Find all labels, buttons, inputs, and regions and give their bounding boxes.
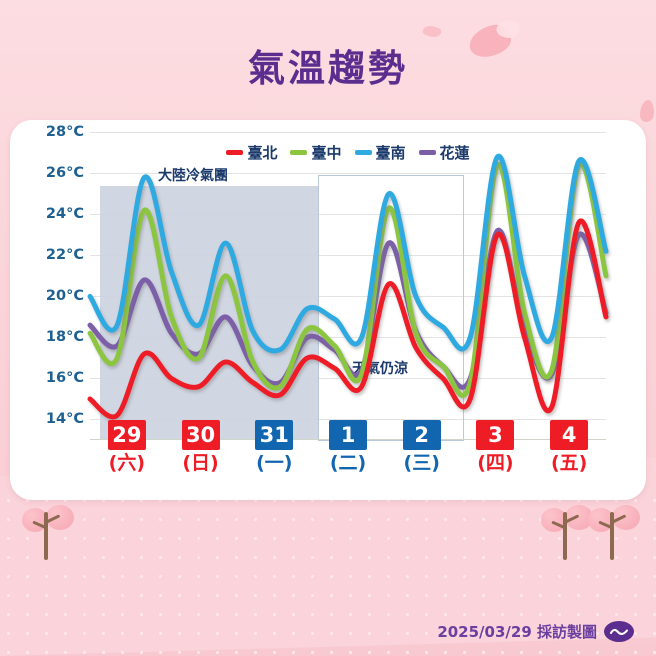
date-cell-30[interactable]: 30(日) [170,420,232,474]
date-day-badge: 4 [550,420,588,450]
date-weekday-label: (三) [391,453,453,474]
cwa-wave-logo-icon [604,621,634,642]
date-day-badge: 3 [476,420,514,450]
date-cell-29[interactable]: 29(六) [96,420,158,474]
date-weekday-label: (日) [170,453,232,474]
date-cell-1[interactable]: 1(二) [317,420,379,474]
y-tick-label: 14°C [46,411,84,427]
date-weekday-label: (六) [96,453,158,474]
legend-swatch-icon [226,150,243,155]
y-tick-label: 18°C [46,329,84,345]
legend-label: 花蓮 [440,142,470,163]
temperature-trend-chart: 14°C16°C18°C20°C22°C24°C26°C28°C 大陸冷氣團 天… [10,120,646,500]
y-tick-label: 26°C [46,165,84,181]
legend-label: 臺中 [311,142,341,163]
weather-chart-graphic: 氣溫趨勢 14°C16°C18°C20°C22°C24°C26°C28°C 大陸… [0,0,656,656]
date-weekday-label: (一) [243,453,305,474]
y-tick-label: 20°C [46,288,84,304]
date-weekday-label: (二) [317,453,379,474]
legend-item-臺中[interactable]: 臺中 [290,142,341,163]
date-weekday-label: (四) [464,453,526,474]
chart-card: 14°C16°C18°C20°C22°C24°C26°C28°C 大陸冷氣團 天… [10,120,646,500]
date-cell-3[interactable]: 3(四) [464,420,526,474]
page-title: 氣溫趨勢 [0,38,656,92]
legend-swatch-icon [355,150,372,155]
date-cell-31[interactable]: 31(一) [243,420,305,474]
y-tick-label: 22°C [46,247,84,263]
y-tick-label: 24°C [46,206,84,222]
y-tick-label: 16°C [46,370,84,386]
plot-area: 大陸冷氣團 天氣仍涼 [90,120,606,440]
legend-item-花蓮[interactable]: 花蓮 [419,142,470,163]
footer-credit: 2025/03/29 採訪製圖 [437,621,597,642]
chart-legend: 臺北臺中臺南花蓮 [90,142,606,163]
date-day-badge: 31 [255,420,293,450]
date-day-badge: 2 [403,420,441,450]
date-cell-2[interactable]: 2(三) [391,420,453,474]
temperature-curves [90,120,606,440]
date-day-badge: 1 [329,420,367,450]
date-day-badge: 30 [182,420,220,450]
legend-item-臺南[interactable]: 臺南 [355,142,406,163]
legend-swatch-icon [419,150,436,155]
y-tick-label: 28°C [46,124,84,140]
date-axis: 29(六)30(日)31(一)1(二)2(三)3(四)4(五) [90,420,606,500]
date-day-badge: 29 [108,420,146,450]
footer: 2025/03/29 採訪製圖 [437,621,634,642]
legend-item-臺北[interactable]: 臺北 [226,142,277,163]
cherry-petal-icon [640,100,654,122]
date-weekday-label: (五) [538,453,600,474]
legend-label: 臺北 [247,142,277,163]
y-axis-labels: 14°C16°C18°C20°C22°C24°C26°C28°C [10,120,90,440]
legend-swatch-icon [290,150,307,155]
legend-label: 臺南 [376,142,406,163]
date-cell-4[interactable]: 4(五) [538,420,600,474]
